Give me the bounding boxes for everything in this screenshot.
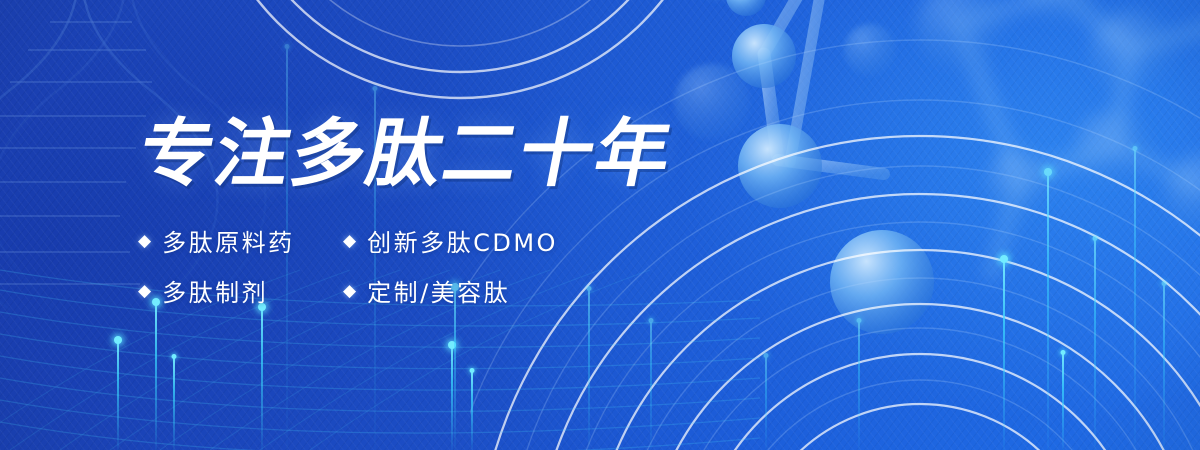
feature-label: 定制/美容肽 xyxy=(367,273,510,308)
feature-row: ◆ 多肽原料药 ◆ 创新多肽CDMO xyxy=(138,215,608,265)
feature-label: 多肽制剂 xyxy=(162,273,268,308)
banner-content: 专注多肽二十年 ◆ 多肽原料药 ◆ 创新多肽CDMO ◆ 多肽制剂 ◆ xyxy=(0,0,1200,450)
feature-item-custom-cosmetic-peptide[interactable]: ◆ 定制/美容肽 xyxy=(343,273,603,308)
feature-item-innovative-peptide-cdmo[interactable]: ◆ 创新多肽CDMO xyxy=(343,223,603,258)
diamond-bullet-icon: ◆ xyxy=(138,232,151,249)
feature-label: 多肽原料药 xyxy=(162,223,295,258)
feature-label: 创新多肽CDMO xyxy=(367,223,558,258)
diamond-bullet-icon: ◆ xyxy=(138,282,151,299)
diamond-bullet-icon: ◆ xyxy=(343,282,356,299)
banner-headline: 专注多肽二十年 xyxy=(133,117,679,191)
peptide-promo-banner: 专注多肽二十年 ◆ 多肽原料药 ◆ 创新多肽CDMO ◆ 多肽制剂 ◆ xyxy=(0,0,1200,450)
feature-item-peptide-api[interactable]: ◆ 多肽原料药 xyxy=(138,223,343,258)
diamond-bullet-icon: ◆ xyxy=(343,232,356,249)
feature-item-peptide-formulation[interactable]: ◆ 多肽制剂 xyxy=(138,273,343,308)
feature-row: ◆ 多肽制剂 ◆ 定制/美容肽 xyxy=(138,265,608,315)
feature-list: ◆ 多肽原料药 ◆ 创新多肽CDMO ◆ 多肽制剂 ◆ 定制/美容肽 xyxy=(138,215,608,315)
